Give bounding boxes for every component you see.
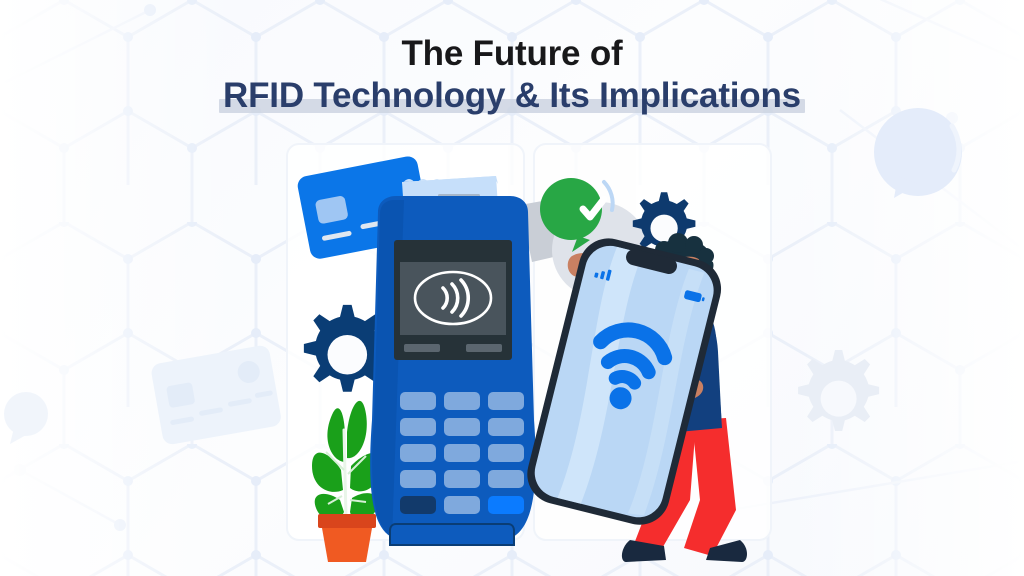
plant-pot-rim xyxy=(318,514,376,528)
page-title-line-2: RFID Technology & Its Implications xyxy=(223,76,801,115)
keypad-enter-key xyxy=(488,496,524,514)
plant-pot xyxy=(322,528,372,562)
card-slot xyxy=(390,524,514,545)
keypad-cancel-key xyxy=(400,496,436,514)
pos-terminal xyxy=(370,196,536,545)
hero-title-block: The Future of RFID Technology & Its Impl… xyxy=(0,34,1024,115)
page-title-line-1: The Future of xyxy=(0,34,1024,73)
banner-canvas: The Future of RFID Technology & Its Impl… xyxy=(0,0,1024,576)
smartphone xyxy=(521,232,727,531)
page-title-line-2-wrap: RFID Technology & Its Implications xyxy=(223,76,801,115)
